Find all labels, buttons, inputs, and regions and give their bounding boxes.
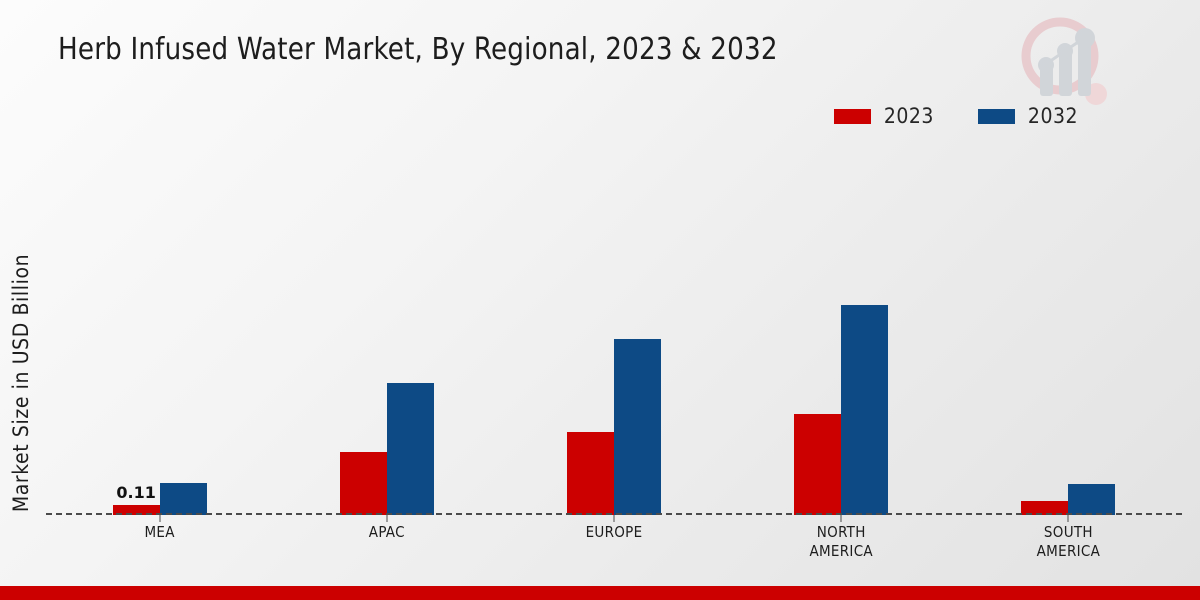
- bar-2023-apac[interactable]: [340, 452, 387, 515]
- bar-2023-europe[interactable]: [567, 432, 614, 515]
- bar-pair: [1021, 140, 1115, 515]
- bar-group: [500, 140, 727, 515]
- footer-accent-bar: [0, 586, 1200, 600]
- legend-swatch-2032: [978, 109, 1015, 124]
- x-axis-category-label: APAC: [273, 523, 500, 561]
- bar-2032-north-america[interactable]: [841, 305, 888, 515]
- bar-2032-mea[interactable]: [160, 483, 207, 515]
- bar-2023-north-america[interactable]: [794, 414, 841, 515]
- x-axis-category-label: MEA: [46, 523, 273, 561]
- legend-label-2023: 2023: [884, 104, 934, 128]
- x-axis-tick: [386, 515, 387, 522]
- x-axis-tick: [159, 515, 160, 522]
- x-axis-tick: [614, 515, 615, 522]
- bar-2032-apac[interactable]: [387, 383, 434, 515]
- y-axis-title-text: Market Size in USD Billion: [9, 254, 33, 512]
- bar-group: 0.11: [46, 140, 273, 515]
- bar-pair: [340, 140, 434, 515]
- y-axis-title: Market Size in USD Billion: [4, 218, 38, 548]
- bar-group: [955, 140, 1182, 515]
- category-label-line1: NORTH: [817, 523, 866, 541]
- plot-area: 0.11: [46, 140, 1182, 515]
- bar-pair: 0.11: [113, 140, 207, 515]
- watermark-logo-icon: [1010, 12, 1114, 108]
- category-label-line1: SOUTH: [1044, 523, 1093, 541]
- x-axis-tick: [1068, 515, 1069, 522]
- category-label-line1: APAC: [369, 523, 405, 541]
- chart-figure: Herb Infused Water Market, By Regional, …: [0, 0, 1200, 600]
- x-axis-category-label: EUROPE: [500, 523, 727, 561]
- bar-2032-south-america[interactable]: [1068, 484, 1115, 515]
- bar-group: [728, 140, 955, 515]
- bar-pair: [567, 140, 661, 515]
- category-label-line2: AMERICA: [728, 542, 955, 561]
- bar-2032-europe[interactable]: [614, 339, 661, 515]
- x-axis-category-labels: MEAAPACEUROPENORTHAMERICASOUTHAMERICA: [46, 523, 1182, 561]
- category-label-line1: MEA: [144, 523, 174, 541]
- bar-group: [273, 140, 500, 515]
- bar-value-label: 0.11: [116, 483, 155, 502]
- chart-title: Herb Infused Water Market, By Regional, …: [58, 32, 778, 67]
- legend-label-2032: 2032: [1028, 104, 1078, 128]
- bar-groups: 0.11: [46, 140, 1182, 515]
- legend-swatch-2023: [834, 109, 871, 124]
- bar-pair: [794, 140, 888, 515]
- category-label-line1: EUROPE: [586, 523, 643, 541]
- category-label-line2: AMERICA: [955, 542, 1182, 561]
- chart-legend: 2023 2032: [834, 104, 1078, 128]
- x-axis-tick: [841, 515, 842, 522]
- legend-item-2023[interactable]: 2023: [834, 104, 934, 128]
- legend-item-2032[interactable]: 2032: [978, 104, 1078, 128]
- x-axis-category-label: SOUTHAMERICA: [955, 523, 1182, 561]
- x-axis-baseline: [46, 513, 1182, 515]
- x-axis-category-label: NORTHAMERICA: [728, 523, 955, 561]
